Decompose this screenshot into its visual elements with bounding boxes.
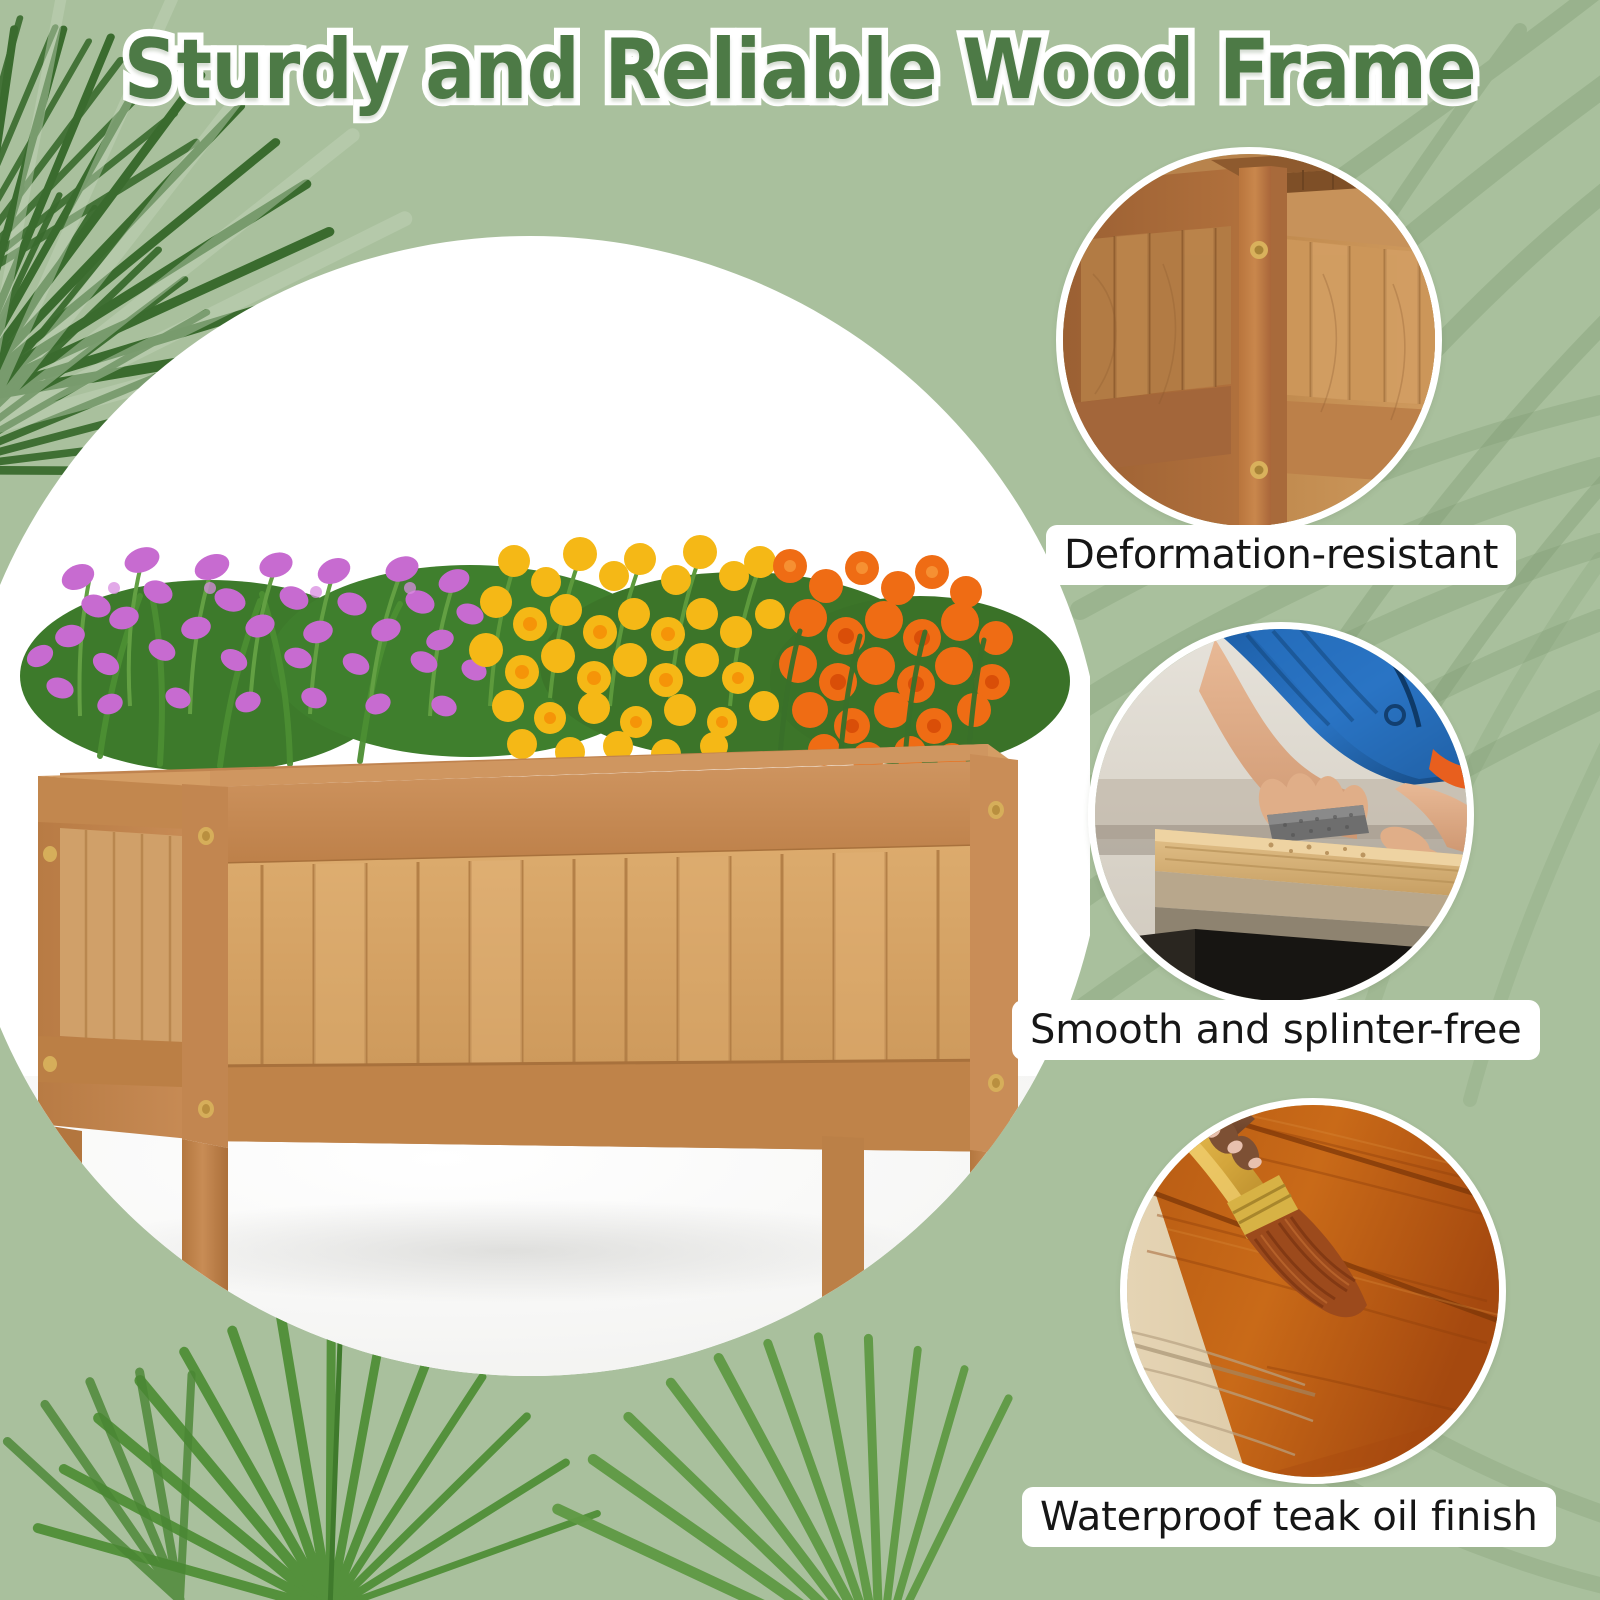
feature-label-waterproof-teak-oil: Waterproof teak oil finish (1022, 1487, 1556, 1547)
feature-image-deformation-resistant (1056, 147, 1442, 533)
feature-label-smooth-splinter-free: Smooth and splinter-free (1012, 1000, 1540, 1060)
marketing-banner: Sturdy and Reliable Wood Frame (0, 0, 1600, 1600)
feature-label-deformation-resistant: Deformation-resistant (1046, 525, 1516, 585)
feature-image-smooth-splinter-free (1088, 622, 1474, 1008)
hero-product-image (0, 236, 1090, 1406)
box-front-face (210, 760, 1010, 1152)
page-title: Sturdy and Reliable Wood Frame (124, 22, 1476, 118)
banner-title-wrap: Sturdy and Reliable Wood Frame (0, 22, 1600, 108)
feature-image-waterproof-teak-oil (1120, 1098, 1506, 1484)
